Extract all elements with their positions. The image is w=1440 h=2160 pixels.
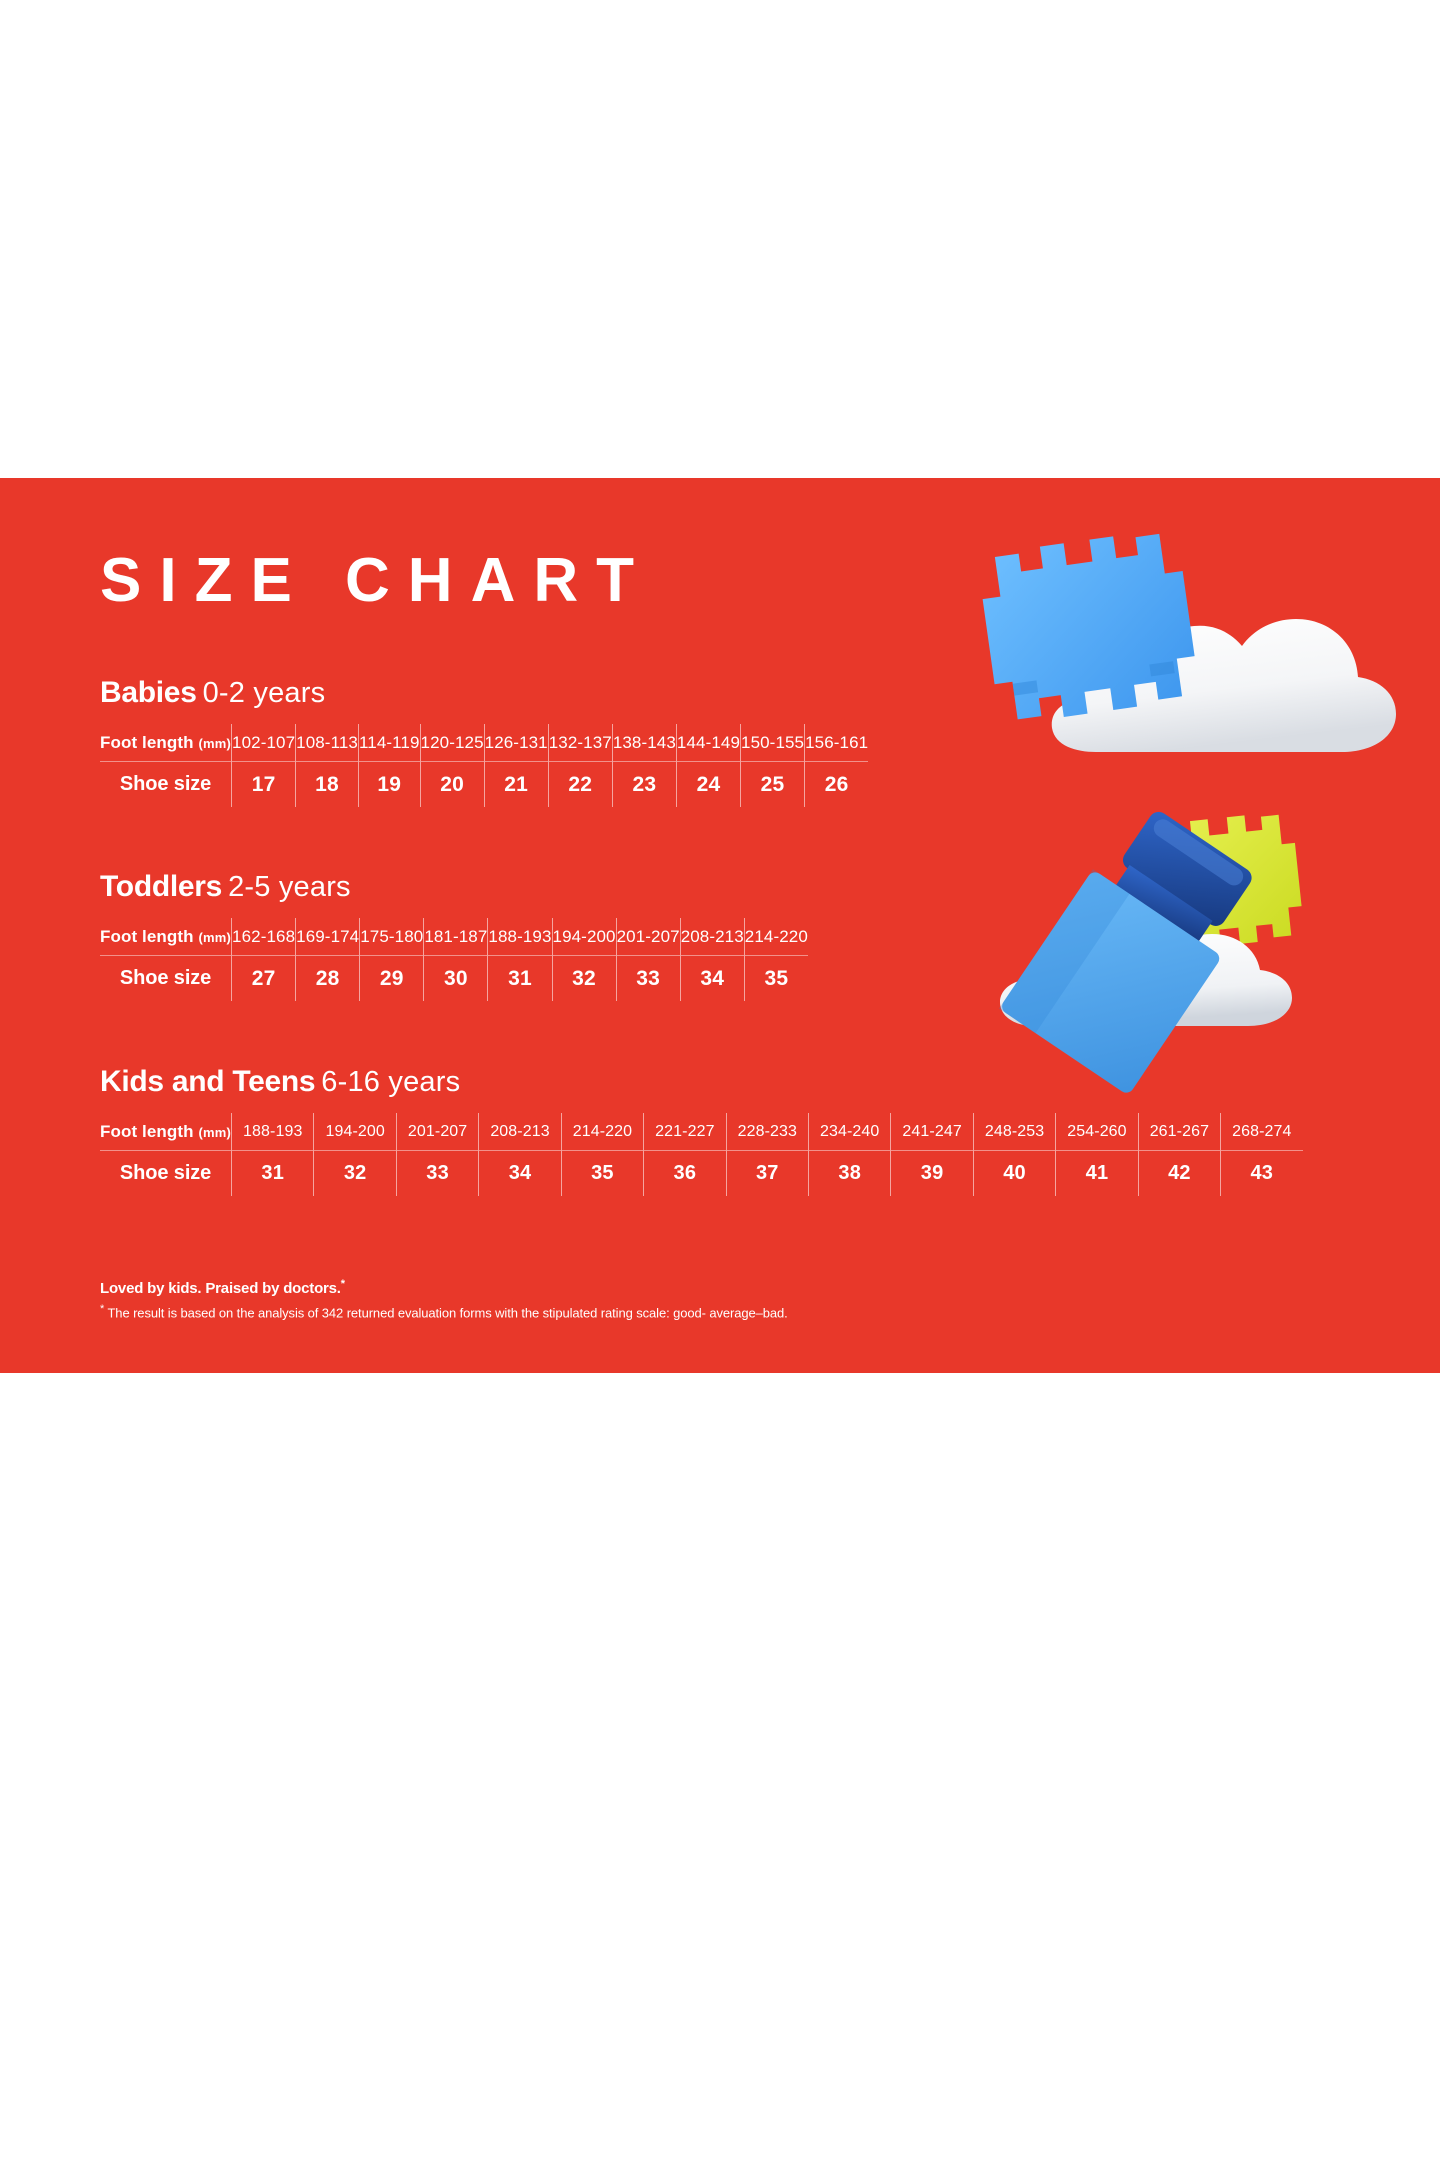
cell-foot-length: 162-168 (232, 918, 296, 956)
foot-length-label: Foot length (100, 927, 194, 946)
row-label-shoe-size: Shoe size (100, 762, 232, 808)
footnote-disclaimer-text: The result is based on the analysis of 3… (107, 1305, 787, 1320)
footnote-disclaimer: * The result is based on the analysis of… (100, 1303, 788, 1320)
cell-foot-length: 234-240 (809, 1113, 891, 1151)
cell-foot-length: 194-200 (314, 1113, 396, 1151)
foot-length-label: Foot length (100, 1122, 194, 1141)
table-row-shoe-size: Shoe size 17 18 19 20 21 22 23 24 25 26 (100, 762, 868, 808)
section-age-range: 6-16 years (321, 1066, 460, 1098)
cell-shoe-size: 18 (296, 762, 359, 808)
table-row-shoe-size: Shoe size 27 28 29 30 31 32 33 34 35 (100, 956, 808, 1002)
cell-shoe-size: 27 (232, 956, 296, 1002)
page-title: SIZE CHART (100, 550, 652, 612)
cell-shoe-size: 33 (396, 1151, 478, 1197)
cell-foot-length: 214-220 (561, 1113, 643, 1151)
cell-foot-length: 102-107 (232, 724, 296, 762)
cell-foot-length: 169-174 (296, 918, 360, 956)
cell-shoe-size: 26 (805, 762, 869, 808)
cell-foot-length: 188-193 (488, 918, 552, 956)
poster-page: SIZE CHART Babies0-2 years Foot length (… (0, 0, 1440, 2160)
cell-foot-length: 248-253 (973, 1113, 1055, 1151)
cell-shoe-size: 34 (479, 1151, 561, 1197)
foot-length-unit: (mm) (198, 930, 231, 945)
size-chart-poster: SIZE CHART Babies0-2 years Foot length (… (0, 478, 1440, 1373)
cell-shoe-size: 29 (360, 956, 424, 1002)
table-row-foot-length: Foot length (mm) 188-193 194-200 201-207… (100, 1113, 1303, 1151)
cell-shoe-size: 39 (891, 1151, 973, 1197)
cell-foot-length: 221-227 (644, 1113, 726, 1151)
table-row-shoe-size: Shoe size 31 32 33 34 35 36 37 38 39 40 … (100, 1151, 1303, 1197)
cell-shoe-size: 31 (232, 1151, 314, 1197)
cell-shoe-size: 23 (612, 762, 676, 808)
row-label-shoe-size: Shoe size (100, 1151, 232, 1197)
section-kids-and-teens: Kids and Teens6-16 years Foot length (mm… (100, 1067, 1303, 1196)
cell-shoe-size: 24 (676, 762, 740, 808)
cell-shoe-size: 32 (552, 956, 616, 1002)
cell-foot-length: 175-180 (360, 918, 424, 956)
section-age-range: 2-5 years (228, 871, 351, 903)
section-group-name: Kids and Teens (100, 1065, 315, 1098)
section-group-name: Babies (100, 676, 197, 709)
cell-shoe-size: 25 (741, 762, 805, 808)
cell-foot-length: 268-274 (1221, 1113, 1303, 1151)
cell-foot-length: 120-125 (420, 724, 484, 762)
section-age-range: 0-2 years (203, 677, 326, 709)
cell-foot-length: 144-149 (676, 724, 740, 762)
footnote-claim-text: Loved by kids. Praised by doctors. (100, 1280, 341, 1297)
cell-foot-length: 126-131 (484, 724, 548, 762)
table-row-foot-length: Foot length (mm) 162-168 169-174 175-180… (100, 918, 808, 956)
footnote-block: Loved by kids. Praised by doctors.* * Th… (100, 1278, 788, 1320)
cell-shoe-size: 35 (744, 956, 808, 1002)
cell-foot-length: 254-260 (1056, 1113, 1138, 1151)
cell-shoe-size: 33 (616, 956, 680, 1002)
cell-foot-length: 114-119 (358, 724, 420, 762)
cell-shoe-size: 43 (1221, 1151, 1303, 1197)
cell-foot-length: 156-161 (805, 724, 869, 762)
section-babies: Babies0-2 years Foot length (mm) 102-107… (100, 678, 868, 807)
cell-foot-length: 188-193 (232, 1113, 314, 1151)
footnote-claim: Loved by kids. Praised by doctors.* (100, 1278, 788, 1297)
cell-foot-length: 208-213 (479, 1113, 561, 1151)
cell-foot-length: 194-200 (552, 918, 616, 956)
cell-foot-length: 138-143 (612, 724, 676, 762)
cell-shoe-size: 22 (548, 762, 612, 808)
footnote-claim-marker: * (341, 1278, 345, 1290)
size-table-toddlers: Foot length (mm) 162-168 169-174 175-180… (100, 918, 808, 1001)
cell-shoe-size: 35 (561, 1151, 643, 1197)
cell-shoe-size: 41 (1056, 1151, 1138, 1197)
cell-foot-length: 261-267 (1138, 1113, 1220, 1151)
cell-shoe-size: 17 (232, 762, 296, 808)
cell-shoe-size: 42 (1138, 1151, 1220, 1197)
size-table-babies: Foot length (mm) 102-107 108-113 114-119… (100, 724, 868, 807)
row-label-shoe-size: Shoe size (100, 956, 232, 1002)
cell-shoe-size: 21 (484, 762, 548, 808)
table-row-foot-length: Foot length (mm) 102-107 108-113 114-119… (100, 724, 868, 762)
cell-foot-length: 214-220 (744, 918, 808, 956)
size-table-kids-and-teens: Foot length (mm) 188-193 194-200 201-207… (100, 1113, 1303, 1196)
cell-shoe-size: 40 (973, 1151, 1055, 1197)
cell-shoe-size: 20 (420, 762, 484, 808)
poster-content: SIZE CHART Babies0-2 years Foot length (… (100, 478, 1350, 1373)
cell-foot-length: 150-155 (741, 724, 805, 762)
row-label-foot-length: Foot length (mm) (100, 724, 232, 762)
section-heading-toddlers: Toddlers2-5 years (100, 872, 808, 902)
section-toddlers: Toddlers2-5 years Foot length (mm) 162-1… (100, 872, 808, 1001)
cell-shoe-size: 37 (726, 1151, 808, 1197)
cell-shoe-size: 38 (809, 1151, 891, 1197)
section-heading-kids-and-teens: Kids and Teens6-16 years (100, 1067, 1303, 1097)
cell-shoe-size: 30 (424, 956, 488, 1002)
cell-shoe-size: 36 (644, 1151, 726, 1197)
cell-shoe-size: 31 (488, 956, 552, 1002)
cell-foot-length: 132-137 (548, 724, 612, 762)
cell-shoe-size: 34 (680, 956, 744, 1002)
footnote-disclaimer-marker: * (100, 1303, 104, 1315)
cell-shoe-size: 19 (358, 762, 420, 808)
cell-foot-length: 208-213 (680, 918, 744, 956)
cell-shoe-size: 28 (296, 956, 360, 1002)
foot-length-unit: (mm) (198, 736, 231, 751)
section-group-name: Toddlers (100, 870, 222, 903)
cell-foot-length: 241-247 (891, 1113, 973, 1151)
section-heading-babies: Babies0-2 years (100, 678, 868, 708)
cell-foot-length: 228-233 (726, 1113, 808, 1151)
foot-length-label: Foot length (100, 733, 194, 752)
cell-foot-length: 181-187 (424, 918, 488, 956)
foot-length-unit: (mm) (198, 1125, 231, 1140)
cell-foot-length: 201-207 (616, 918, 680, 956)
cell-shoe-size: 32 (314, 1151, 396, 1197)
cell-foot-length: 201-207 (396, 1113, 478, 1151)
cell-foot-length: 108-113 (296, 724, 359, 762)
row-label-foot-length: Foot length (mm) (100, 1113, 232, 1151)
row-label-foot-length: Foot length (mm) (100, 918, 232, 956)
